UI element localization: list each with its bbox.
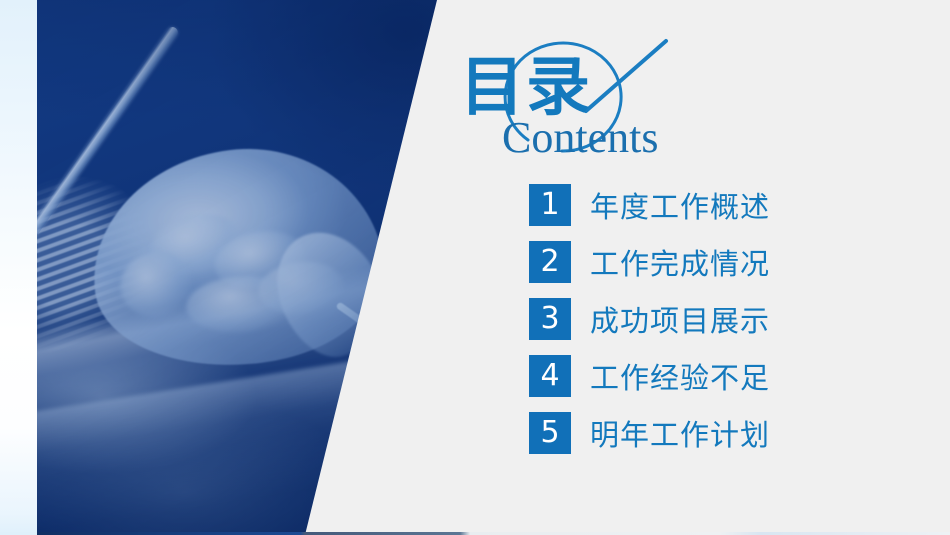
list-item[interactable]: 1 年度工作概述: [529, 184, 770, 226]
page-title-cn: 目录: [460, 56, 592, 120]
title-block: 目录 Contents: [430, 22, 730, 162]
contents-list: 1 年度工作概述 2 工作完成情况 3 成功项目展示 4 工作经验不足 5 明年…: [529, 184, 770, 469]
item-label: 工作完成情况: [590, 241, 770, 283]
item-label: 明年工作计划: [590, 412, 770, 454]
item-label: 工作经验不足: [590, 355, 770, 397]
item-number-badge: 5: [529, 412, 571, 454]
item-number-badge: 2: [529, 241, 571, 283]
item-label: 年度工作概述: [590, 184, 770, 226]
list-item[interactable]: 2 工作完成情况: [529, 241, 770, 283]
photo-blue-duotone-overlay: [0, 0, 460, 535]
item-number-badge: 4: [529, 355, 571, 397]
diagonal-pointer-line-icon: [586, 41, 666, 111]
page-title-en: Contents: [502, 116, 658, 160]
left-accent-strip: [0, 0, 37, 535]
list-item[interactable]: 5 明年工作计划: [529, 412, 770, 454]
list-item[interactable]: 3 成功项目展示: [529, 298, 770, 340]
list-item[interactable]: 4 工作经验不足: [529, 355, 770, 397]
photo-panel: [0, 0, 460, 535]
item-number-badge: 1: [529, 184, 571, 226]
item-label: 成功项目展示: [590, 298, 770, 340]
item-number-badge: 3: [529, 298, 571, 340]
presentation-slide: 目录 Contents 1 年度工作概述 2 工作完成情况 3 成功项目展示 4…: [0, 0, 950, 535]
